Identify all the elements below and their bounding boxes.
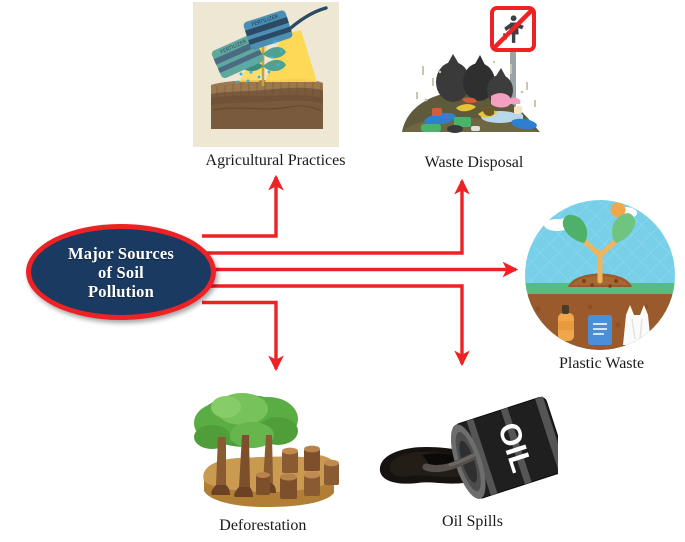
garbage-pile-no-littering-sign-icon xyxy=(396,4,546,152)
node-label-plastic-waste: Plastic Waste xyxy=(559,355,644,373)
node-plastic-waste[interactable]: Plastic Waste xyxy=(522,197,678,379)
arrow-to-waste-disposal xyxy=(202,181,462,253)
arrow-to-agricultural-practices xyxy=(202,177,276,236)
central-node-label: Major Sources of Soil Pollution xyxy=(68,244,174,301)
trees-and-stumps-icon xyxy=(186,389,346,519)
node-oil-spills[interactable]: OIL Oil Spills xyxy=(368,395,558,540)
central-label-line-1: Major Sources xyxy=(68,244,174,263)
fertilizer-spraying-soil-icon: FERTILIZER FERTILIZER xyxy=(193,2,339,147)
node-agricultural-practices[interactable]: FERTILIZER FERTILIZER Agricultural Pract… xyxy=(193,2,358,177)
central-node-major-sources[interactable]: Major Sources of Soil Pollution xyxy=(26,224,216,320)
arrow-to-deforestation xyxy=(202,303,276,370)
node-label-oil-spills: Oil Spills xyxy=(442,513,503,531)
node-deforestation[interactable]: Deforestation xyxy=(186,389,346,541)
arrow-to-oil-spills xyxy=(202,286,462,364)
central-label-line-3: Pollution xyxy=(68,282,174,301)
node-waste-disposal[interactable]: Waste Disposal xyxy=(396,4,546,179)
node-label-agricultural-practices: Agricultural Practices xyxy=(206,152,346,170)
node-label-waste-disposal: Waste Disposal xyxy=(425,154,524,172)
diagram-canvas: Major Sources of Soil Pollution xyxy=(0,0,685,542)
seedling-buried-plastic-circle-icon xyxy=(522,197,678,353)
tipped-oil-barrel-spill-icon: OIL xyxy=(368,395,558,515)
node-label-deforestation: Deforestation xyxy=(219,517,306,535)
central-label-line-2: of Soil xyxy=(68,263,174,282)
